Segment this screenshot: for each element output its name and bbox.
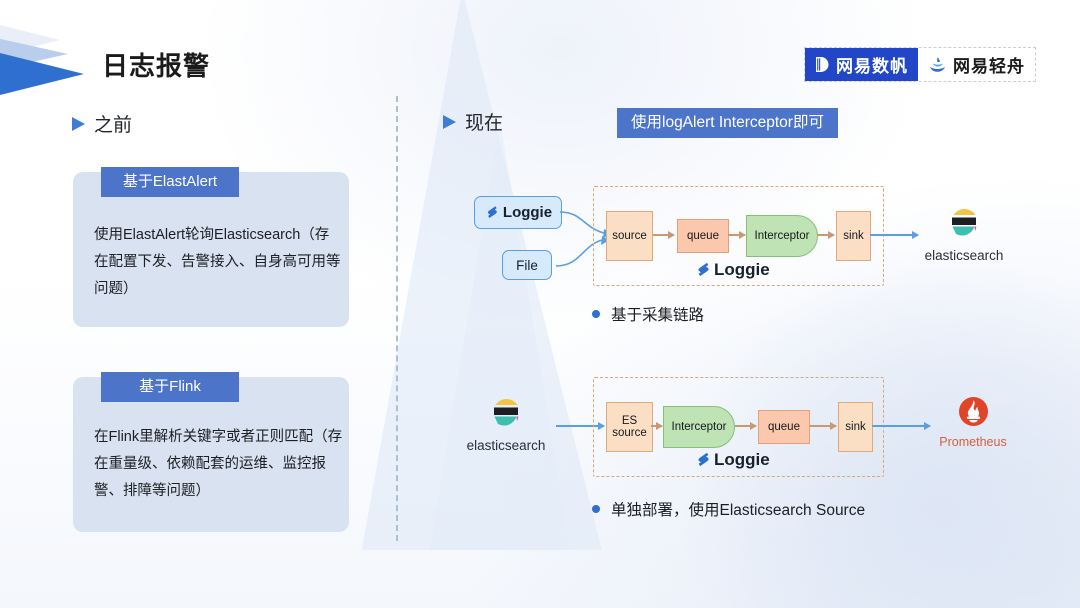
- flow2-output-label: Prometheus: [930, 435, 1016, 449]
- flow1-node-source: source: [606, 211, 653, 261]
- flow1-footnote: 基于采集链路: [592, 303, 704, 325]
- chevron-icon-dark: [0, 52, 84, 96]
- input-node-file: File: [502, 250, 552, 280]
- flow2-node-queue: queue: [758, 410, 810, 444]
- flow1-node-source-label: source: [612, 230, 647, 242]
- flow1-pipeline-loggie-label: Loggie: [694, 260, 770, 280]
- flow2-input-label: elasticsearch: [460, 438, 552, 453]
- flow1-output-elasticsearch: elasticsearch: [918, 206, 1010, 263]
- prometheus-logo-icon: [958, 396, 989, 427]
- logo-wangyi-shufan: 网易数帆: [805, 48, 918, 81]
- flow1-node-sink: sink: [836, 211, 871, 261]
- flow1-arrow-queue-interceptor: [728, 234, 745, 236]
- flow1-node-interceptor-label: Interceptor: [755, 230, 810, 242]
- flow2-arrow-sink-output: [872, 425, 930, 427]
- flow2-arrow-source-interceptor: [651, 425, 662, 427]
- column-divider: [396, 96, 398, 541]
- logalert-banner: 使用logAlert Interceptor即可: [617, 108, 838, 138]
- shufan-mark-icon: [815, 56, 830, 73]
- logo-wangyi-qingzhou: 网易轻舟: [918, 48, 1035, 81]
- flow2-output-prometheus: Prometheus: [930, 396, 1016, 449]
- flow2-footnote-label: 单独部署，使用Elasticsearch Source: [611, 498, 865, 520]
- input-node-file-label: File: [516, 258, 538, 273]
- card-elastalert-body: 使用ElastAlert轮询Elasticsearch（存在配置下发、告警接入、…: [94, 222, 342, 303]
- flow2-footnote: 单独部署，使用Elasticsearch Source: [592, 498, 865, 520]
- right-column-heading-label: 现在: [465, 108, 503, 135]
- left-column-heading-label: 之前: [94, 110, 132, 137]
- logo-wangyi-qingzhou-label: 网易轻舟: [953, 52, 1025, 77]
- flow1-footnote-label: 基于采集链路: [611, 303, 704, 325]
- flow2-node-interceptor-label: Interceptor: [672, 421, 727, 433]
- arrow-right-icon: [443, 115, 456, 129]
- flow1-arrow-interceptor-sink: [817, 234, 834, 236]
- chevron-stack-decoration: [0, 18, 92, 100]
- flow2-arrow-queue-sink: [810, 425, 836, 427]
- brand-logos: 网易数帆 网易轻舟: [804, 47, 1036, 82]
- page-title: 日志报警: [102, 46, 210, 83]
- arrow-right-icon: [72, 117, 85, 131]
- flow2-input-elasticsearch: elasticsearch: [460, 396, 552, 453]
- flow2-pipeline-loggie-text: Loggie: [714, 450, 770, 470]
- flow1-arrow-sink-output: [870, 234, 918, 236]
- slide-canvas: 日志报警 网易数帆 网易轻舟 之前 基于ElastAlert 使用ElastAl…: [0, 0, 1080, 608]
- right-column-heading: 现在: [443, 108, 503, 135]
- flow2-node-es-source-line1: ES: [622, 415, 637, 427]
- bullet-dot-icon: [592, 310, 600, 318]
- flow1-arrow-source-queue: [653, 234, 674, 236]
- flow2-node-sink-label: sink: [845, 421, 865, 433]
- logo-wangyi-shufan-label: 网易数帆: [836, 52, 908, 77]
- card-flink-tab: 基于Flink: [101, 372, 239, 402]
- flow2-arrow-interceptor-queue: [735, 425, 756, 427]
- input-node-loggie: Loggie: [474, 196, 562, 229]
- left-column-heading: 之前: [72, 110, 132, 137]
- flow2-node-sink: sink: [838, 402, 873, 452]
- loggie-logo-icon: [694, 451, 711, 470]
- flow1-node-sink-label: sink: [843, 230, 863, 242]
- flow2-node-queue-label: queue: [768, 421, 800, 433]
- flow2-node-es-source: ES source: [606, 402, 653, 452]
- card-flink-body: 在Flink里解析关键字或者正则匹配（存在重量级、依赖配套的运维、监控报警、排障…: [94, 424, 344, 505]
- elasticsearch-logo-icon: [489, 396, 523, 430]
- qingzhou-boat-icon: [928, 56, 947, 73]
- bullet-dot-icon: [592, 505, 600, 513]
- background-triangle-watermark-secondary: [430, 120, 570, 550]
- flow2-pipeline-loggie-label: Loggie: [694, 450, 770, 470]
- input-node-loggie-label: Loggie: [503, 204, 552, 221]
- flow2-node-interceptor: Interceptor: [663, 406, 735, 448]
- loggie-logo-icon: [484, 205, 499, 221]
- flow1-node-interceptor: Interceptor: [746, 215, 818, 257]
- card-elastalert-tab: 基于ElastAlert: [101, 167, 239, 197]
- elasticsearch-logo-icon: [947, 206, 981, 240]
- flow1-output-label: elasticsearch: [918, 248, 1010, 263]
- flow1-node-queue: queue: [677, 219, 729, 253]
- flow1-pipeline-loggie-text: Loggie: [714, 260, 770, 280]
- flow2-node-es-source-label: ES source: [612, 415, 647, 439]
- flow2-node-es-source-line2: source: [612, 427, 647, 439]
- flow1-node-queue-label: queue: [687, 230, 719, 242]
- loggie-logo-icon: [694, 261, 711, 280]
